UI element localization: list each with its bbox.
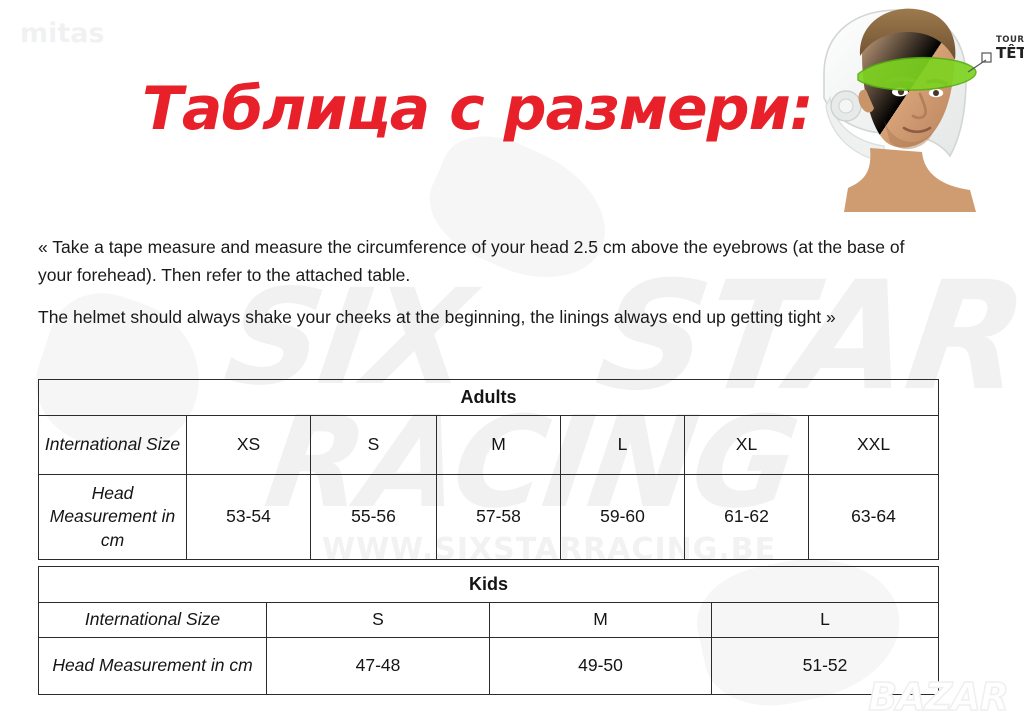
adults-group-title: Adults	[39, 380, 939, 416]
adults-row-label-size: International Size	[39, 416, 187, 475]
table-row: International Size XS S M L XL XXL	[39, 416, 939, 475]
adults-size-l: L	[561, 416, 685, 475]
callout-marker	[982, 53, 991, 62]
adults-size-s: S	[311, 416, 437, 475]
kids-measurement-m: 49-50	[490, 638, 712, 695]
kids-row-label-size: International Size	[39, 603, 267, 638]
head-illustration-svg: TOUR DE TÊTE	[800, 2, 1024, 212]
size-chart-page: SIX STAR RACING WWW.SIXSTARRACING.BE mit…	[0, 0, 1024, 727]
instruction-paragraph-2: The helmet should always shake your chee…	[38, 303, 928, 331]
kids-size-s: S	[267, 603, 490, 638]
kids-row-label-measurement: Head Measurement in cm	[39, 638, 267, 695]
kids-size-l: L	[712, 603, 939, 638]
adults-row-label-measurement: Head Measurement in cm	[39, 475, 187, 560]
adults-measurement-xl: 61-62	[685, 475, 809, 560]
table-row: Head Measurement in cm 53-54 55-56 57-58…	[39, 475, 939, 560]
adults-size-xl: XL	[685, 416, 809, 475]
adults-measurement-m: 57-58	[437, 475, 561, 560]
adults-measurement-s: 55-56	[311, 475, 437, 560]
kids-size-m: M	[490, 603, 712, 638]
adults-size-xxl: XXL	[809, 416, 939, 475]
bazar-watermark: BAZAR	[868, 675, 1008, 719]
table-row: Adults	[39, 380, 939, 416]
adults-measurement-l: 59-60	[561, 475, 685, 560]
table-row: Kids	[39, 567, 939, 603]
mitas-watermark: mitas	[20, 18, 105, 49]
adults-measurement-xxl: 63-64	[809, 475, 939, 560]
neck-and-shoulders	[844, 148, 976, 212]
adults-measurement-xs: 53-54	[187, 475, 311, 560]
table-row: International Size S M L	[39, 603, 939, 638]
pupil-right	[933, 90, 939, 96]
adults-size-xs: XS	[187, 416, 311, 475]
table-row: Head Measurement in cm 47-48 49-50 51-52	[39, 638, 939, 695]
kids-measurement-s: 47-48	[267, 638, 490, 695]
page-title: Таблица с размери:	[142, 74, 813, 144]
instruction-paragraph-1: « Take a tape measure and measure the ci…	[38, 233, 928, 290]
adults-size-table: Adults International Size XS S M L XL XX…	[38, 379, 939, 560]
kids-group-title: Kids	[39, 567, 939, 603]
adults-size-m: M	[437, 416, 561, 475]
helmet-pivot-inner	[839, 99, 853, 113]
kids-size-table: Kids International Size S M L Head Measu…	[38, 566, 939, 695]
callout-line-2: TÊTE	[996, 43, 1024, 62]
head-measurement-illustration: TOUR DE TÊTE	[800, 2, 1024, 212]
